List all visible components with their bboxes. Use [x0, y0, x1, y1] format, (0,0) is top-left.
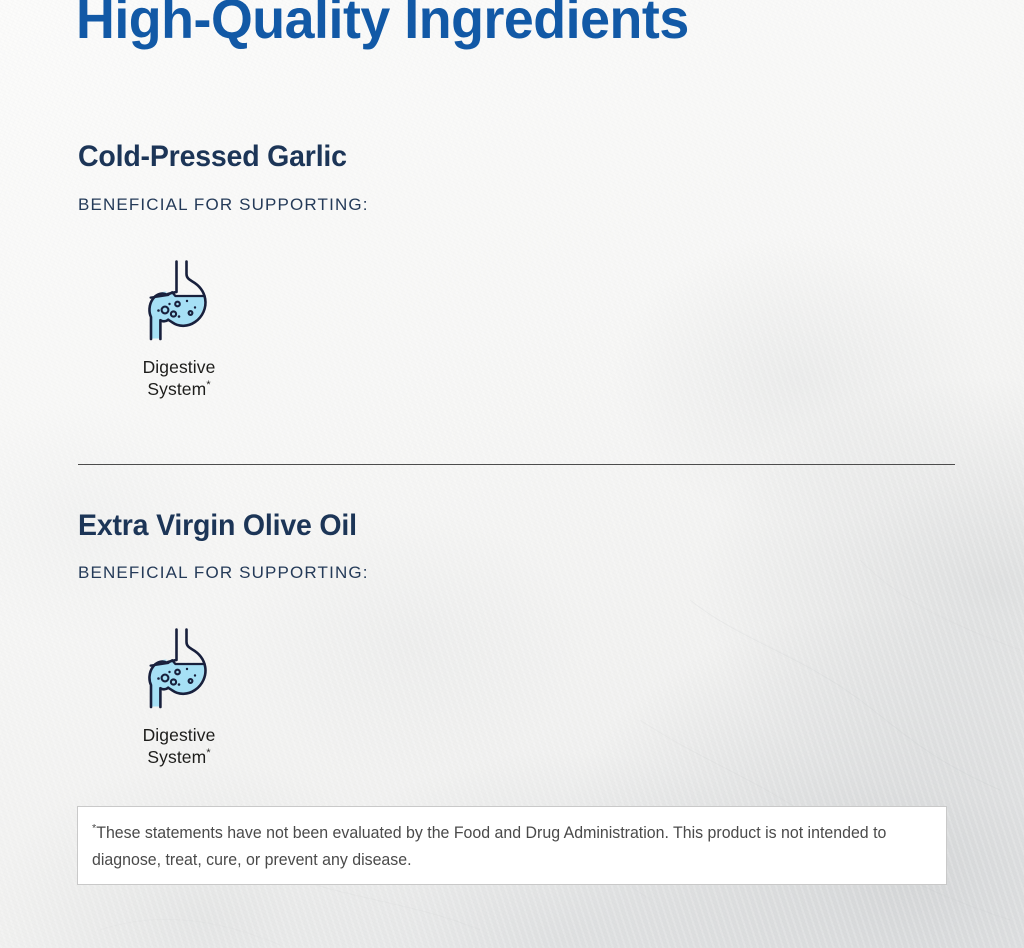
benefit-item-digestive-system: Digestive System*	[79, 258, 279, 401]
benefit-label-line1: Digestive	[143, 357, 216, 377]
benefit-label-line1: Digestive	[143, 725, 216, 745]
ingredient-title: Cold-Pressed Garlic	[78, 142, 347, 172]
section-divider	[78, 464, 955, 465]
disclaimer-body: These statements have not been evaluated…	[92, 824, 886, 869]
disclaimer-text: *These statements have not been evaluate…	[92, 820, 903, 873]
beneficial-for-supporting-label: BENEFICIAL FOR SUPPORTING:	[78, 564, 369, 581]
disclaimer-box: *These statements have not been evaluate…	[77, 806, 947, 885]
stomach-digestive-icon	[146, 626, 212, 710]
stomach-digestive-icon	[146, 258, 212, 342]
benefit-footnote-marker: *	[206, 748, 210, 760]
page-title: High-Quality Ingredients	[76, 0, 689, 47]
ingredient-title: Extra Virgin Olive Oil	[78, 511, 357, 541]
benefit-label: Digestive System*	[79, 356, 279, 401]
beneficial-for-supporting-label: BENEFICIAL FOR SUPPORTING:	[78, 196, 369, 213]
benefit-label-line2: System	[147, 379, 206, 399]
benefit-footnote-marker: *	[206, 380, 210, 392]
benefit-label-line2: System	[147, 747, 206, 767]
benefit-item-digestive-system: Digestive System*	[79, 626, 279, 769]
benefit-label: Digestive System*	[79, 724, 279, 769]
ingredients-panel: High-Quality Ingredients Cold-Pressed Ga…	[0, 0, 1024, 948]
